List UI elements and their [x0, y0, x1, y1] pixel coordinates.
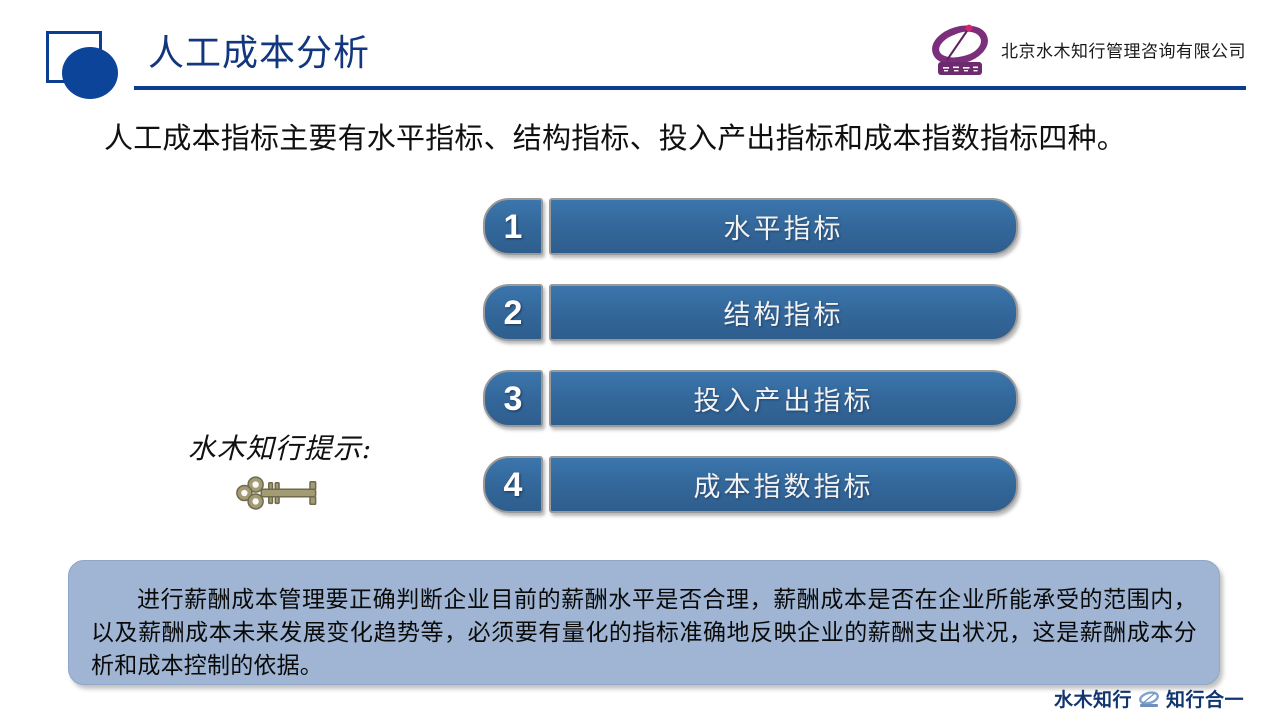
indicator-row[interactable]: 3 投入产出指标	[483, 370, 1018, 427]
indicator-row[interactable]: 4 成本指数指标	[483, 456, 1018, 513]
shuimuzhixing-swoosh-logo-icon	[929, 19, 991, 79]
indicator-label[interactable]: 结构指标	[549, 284, 1018, 341]
note-text: 进行薪酬成本管理要正确判断企业目前的薪酬水平是否合理，薪酬成本是否在企业所能承受…	[91, 583, 1197, 682]
indicator-bar-list: 1 水平指标 2 结构指标 3 投入产出指标 4 成本指数指标	[483, 198, 1018, 542]
indicator-number-badge: 1	[483, 198, 543, 255]
indicator-number-badge: 3	[483, 370, 543, 427]
indicator-row[interactable]: 2 结构指标	[483, 284, 1018, 341]
brand-block: 北京水木知行管理咨询有限公司	[929, 18, 1246, 80]
indicator-row[interactable]: 1 水平指标	[483, 198, 1018, 255]
tip-label: 水木知行提示:	[155, 430, 405, 468]
indicator-label[interactable]: 投入产出指标	[549, 370, 1018, 427]
indicator-label[interactable]: 水平指标	[549, 198, 1018, 255]
page-title: 人工成本分析	[148, 30, 370, 76]
slide-canvas: 人工成本分析 北京水木	[0, 0, 1280, 720]
indicator-number-badge: 2	[483, 284, 543, 341]
tip-block: 水木知行提示:	[155, 430, 405, 512]
indicator-label[interactable]: 成本指数指标	[549, 456, 1018, 513]
footer-right-text: 知行合一	[1166, 685, 1244, 712]
note-callout-box: 进行薪酬成本管理要正确判断企业目前的薪酬水平是否合理，薪酬成本是否在企业所能承受…	[68, 560, 1220, 685]
lead-paragraph: 人工成本指标主要有水平指标、结构指标、投入产出指标和成本指数指标四种。	[104, 118, 1214, 160]
footer-left-text: 水木知行	[1054, 685, 1132, 712]
shuimuzhixing-small-mark-icon	[1136, 690, 1162, 708]
indicator-number-badge: 4	[483, 456, 543, 513]
footer-brand: 水木知行 知行合一	[1054, 685, 1244, 712]
filled-circle-icon	[62, 47, 118, 99]
skeleton-key-icon	[155, 474, 405, 512]
header-divider	[134, 86, 1246, 90]
company-name: 北京水木知行管理咨询有限公司	[1001, 37, 1246, 62]
